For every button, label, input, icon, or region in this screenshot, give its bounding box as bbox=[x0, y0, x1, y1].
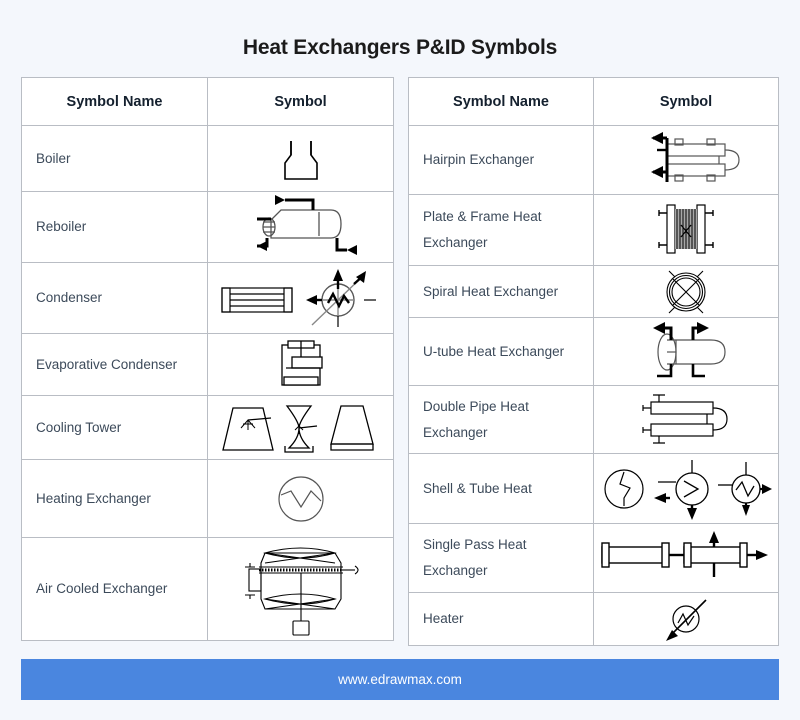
page-title: Heat Exchangers P&ID Symbols bbox=[0, 36, 800, 60]
reboiler-symbol bbox=[208, 192, 393, 262]
header-symbol: Symbol bbox=[594, 78, 778, 125]
table-header-row: Symbol Name Symbol bbox=[409, 78, 778, 126]
heating-exchanger-symbol bbox=[208, 460, 393, 537]
table-row[interactable]: Heater bbox=[409, 593, 778, 645]
row-label: Condenser bbox=[22, 263, 208, 333]
hairpin-exchanger-symbol bbox=[594, 126, 778, 194]
right-symbol-table: Symbol Name Symbol Hairpin Exchanger bbox=[408, 77, 779, 646]
single-pass-heat-exchanger-symbol bbox=[594, 524, 778, 592]
row-label: Reboiler bbox=[22, 192, 208, 262]
row-label: Shell & Tube Heat bbox=[409, 454, 594, 523]
row-label: Plate & Frame Heat Exchanger bbox=[409, 195, 594, 265]
row-label: Single Pass Heat Exchanger bbox=[409, 524, 594, 592]
table-header-row: Symbol Name Symbol bbox=[22, 78, 393, 126]
table-row[interactable]: Reboiler bbox=[22, 192, 393, 263]
row-label: Air Cooled Exchanger bbox=[22, 538, 208, 640]
table-row[interactable]: Condenser bbox=[22, 263, 393, 334]
boiler-symbol bbox=[208, 126, 393, 191]
heater-symbol bbox=[594, 593, 778, 645]
table-row[interactable]: Shell & Tube Heat bbox=[409, 454, 778, 524]
header-symbol-name: Symbol Name bbox=[22, 78, 208, 125]
u-tube-heat-exchanger-symbol bbox=[594, 318, 778, 385]
row-label: Boiler bbox=[22, 126, 208, 191]
row-label: Heater bbox=[409, 593, 594, 645]
row-label: Hairpin Exchanger bbox=[409, 126, 594, 194]
row-label: Spiral Heat Exchanger bbox=[409, 266, 594, 317]
row-label: Double Pipe Heat Exchanger bbox=[409, 386, 594, 453]
condenser-symbol bbox=[208, 263, 393, 333]
evaporative-condenser-symbol bbox=[208, 334, 393, 395]
table-row[interactable]: Heating Exchanger bbox=[22, 460, 393, 538]
row-label: Cooling Tower bbox=[22, 396, 208, 459]
row-label: U-tube Heat Exchanger bbox=[409, 318, 594, 385]
table-row[interactable]: Hairpin Exchanger bbox=[409, 126, 778, 195]
table-row[interactable]: Boiler bbox=[22, 126, 393, 192]
spiral-heat-exchanger-symbol bbox=[594, 266, 778, 317]
table-row[interactable]: Evaporative Condenser bbox=[22, 334, 393, 396]
shell-tube-heat-symbol bbox=[594, 454, 778, 523]
table-row[interactable]: Plate & Frame Heat Exchanger bbox=[409, 195, 778, 266]
air-cooled-exchanger-symbol bbox=[208, 538, 393, 640]
header-symbol-name: Symbol Name bbox=[409, 78, 594, 125]
left-symbol-table: Symbol Name Symbol Boiler Reboiler bbox=[21, 77, 394, 641]
table-row[interactable]: Air Cooled Exchanger bbox=[22, 538, 393, 640]
row-label: Heating Exchanger bbox=[22, 460, 208, 537]
plate-frame-heat-exchanger-symbol bbox=[594, 195, 778, 265]
table-row[interactable]: Spiral Heat Exchanger bbox=[409, 266, 778, 318]
footer-bar: www.edrawmax.com bbox=[21, 659, 779, 700]
table-row[interactable]: Single Pass Heat Exchanger bbox=[409, 524, 778, 593]
header-symbol: Symbol bbox=[208, 78, 393, 125]
double-pipe-heat-exchanger-symbol bbox=[594, 386, 778, 453]
footer-url: www.edrawmax.com bbox=[338, 672, 462, 687]
table-row[interactable]: Double Pipe Heat Exchanger bbox=[409, 386, 778, 454]
cooling-tower-symbol bbox=[208, 396, 393, 459]
symbol-reference-sheet: Heat Exchangers P&ID Symbols Symbol Name… bbox=[0, 0, 800, 720]
table-row[interactable]: U-tube Heat Exchanger bbox=[409, 318, 778, 386]
row-label: Evaporative Condenser bbox=[22, 334, 208, 395]
table-row[interactable]: Cooling Tower bbox=[22, 396, 393, 460]
